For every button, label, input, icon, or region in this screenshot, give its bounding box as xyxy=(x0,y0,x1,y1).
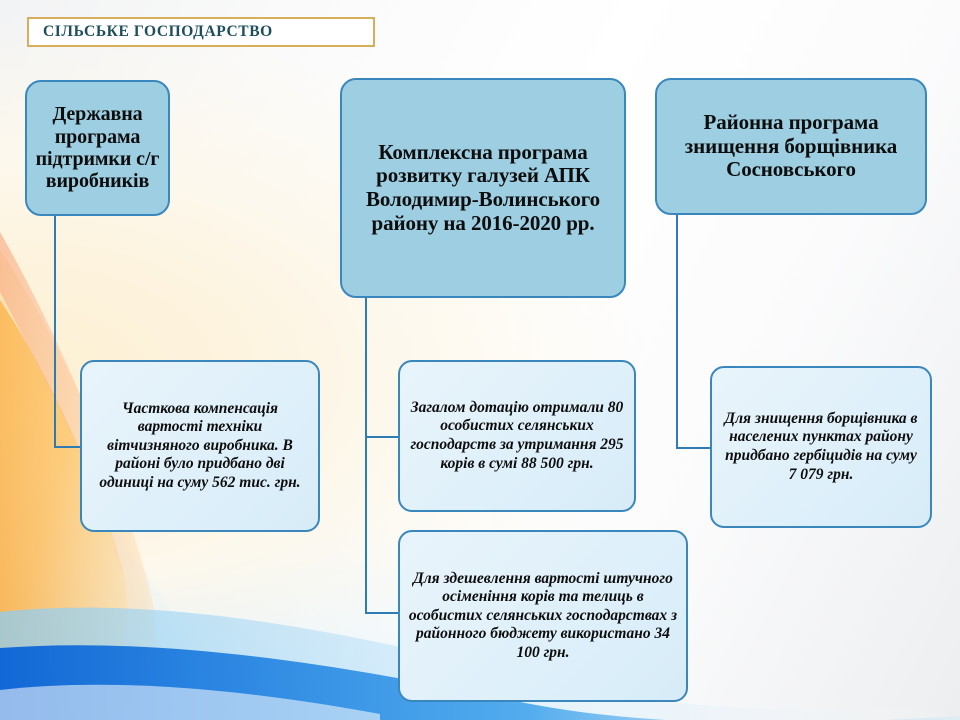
connector-complex-vertical xyxy=(365,298,367,614)
program-node-complex[interactable]: Комплексна програма розвитку галузей АПК… xyxy=(340,78,626,298)
detail-node-subsidy[interactable]: Загалом дотацію отримали 80 особистих се… xyxy=(398,360,636,512)
program-node-district-label: Районна програма знищення борщівника Сос… xyxy=(657,109,925,184)
program-node-state-label: Державна програма підтримки с/г виробник… xyxy=(27,101,168,195)
connector-state-branch-compensation xyxy=(54,446,82,448)
page-title: СІЛЬСЬКЕ ГОСПОДАРСТВО xyxy=(29,23,273,41)
program-node-complex-label: Комплексна програма розвитку галузей АПК… xyxy=(342,139,624,237)
connector-state-vertical xyxy=(54,216,56,447)
connector-complex-branch-insemination xyxy=(365,612,400,614)
detail-node-compensation-label: Часткова компенсація вартості техніки ві… xyxy=(82,396,318,497)
slide-canvas: СІЛЬСЬКЕ ГОСПОДАРСТВО Державна програма … xyxy=(0,0,960,720)
detail-node-subsidy-label: Загалом дотацію отримали 80 особистих се… xyxy=(400,395,634,477)
slide-title-box: СІЛЬСЬКЕ ГОСПОДАРСТВО xyxy=(27,17,375,47)
program-node-district[interactable]: Районна програма знищення борщівника Сос… xyxy=(655,78,927,215)
detail-node-compensation[interactable]: Часткова компенсація вартості техніки ві… xyxy=(80,360,320,532)
detail-node-insemination[interactable]: Для здешевлення вартості штучного осімен… xyxy=(398,530,688,702)
connector-district-branch-herbicide xyxy=(676,447,712,449)
connector-complex-branch-subsidy xyxy=(365,436,400,438)
detail-node-herbicide-label: Для знищення борщівника в населених пунк… xyxy=(712,406,930,488)
detail-node-herbicide[interactable]: Для знищення борщівника в населених пунк… xyxy=(710,366,932,528)
program-node-state[interactable]: Державна програма підтримки с/г виробник… xyxy=(25,80,170,216)
detail-node-insemination-label: Для здешевлення вартості штучного осімен… xyxy=(400,566,686,667)
connector-district-vertical xyxy=(676,215,678,449)
